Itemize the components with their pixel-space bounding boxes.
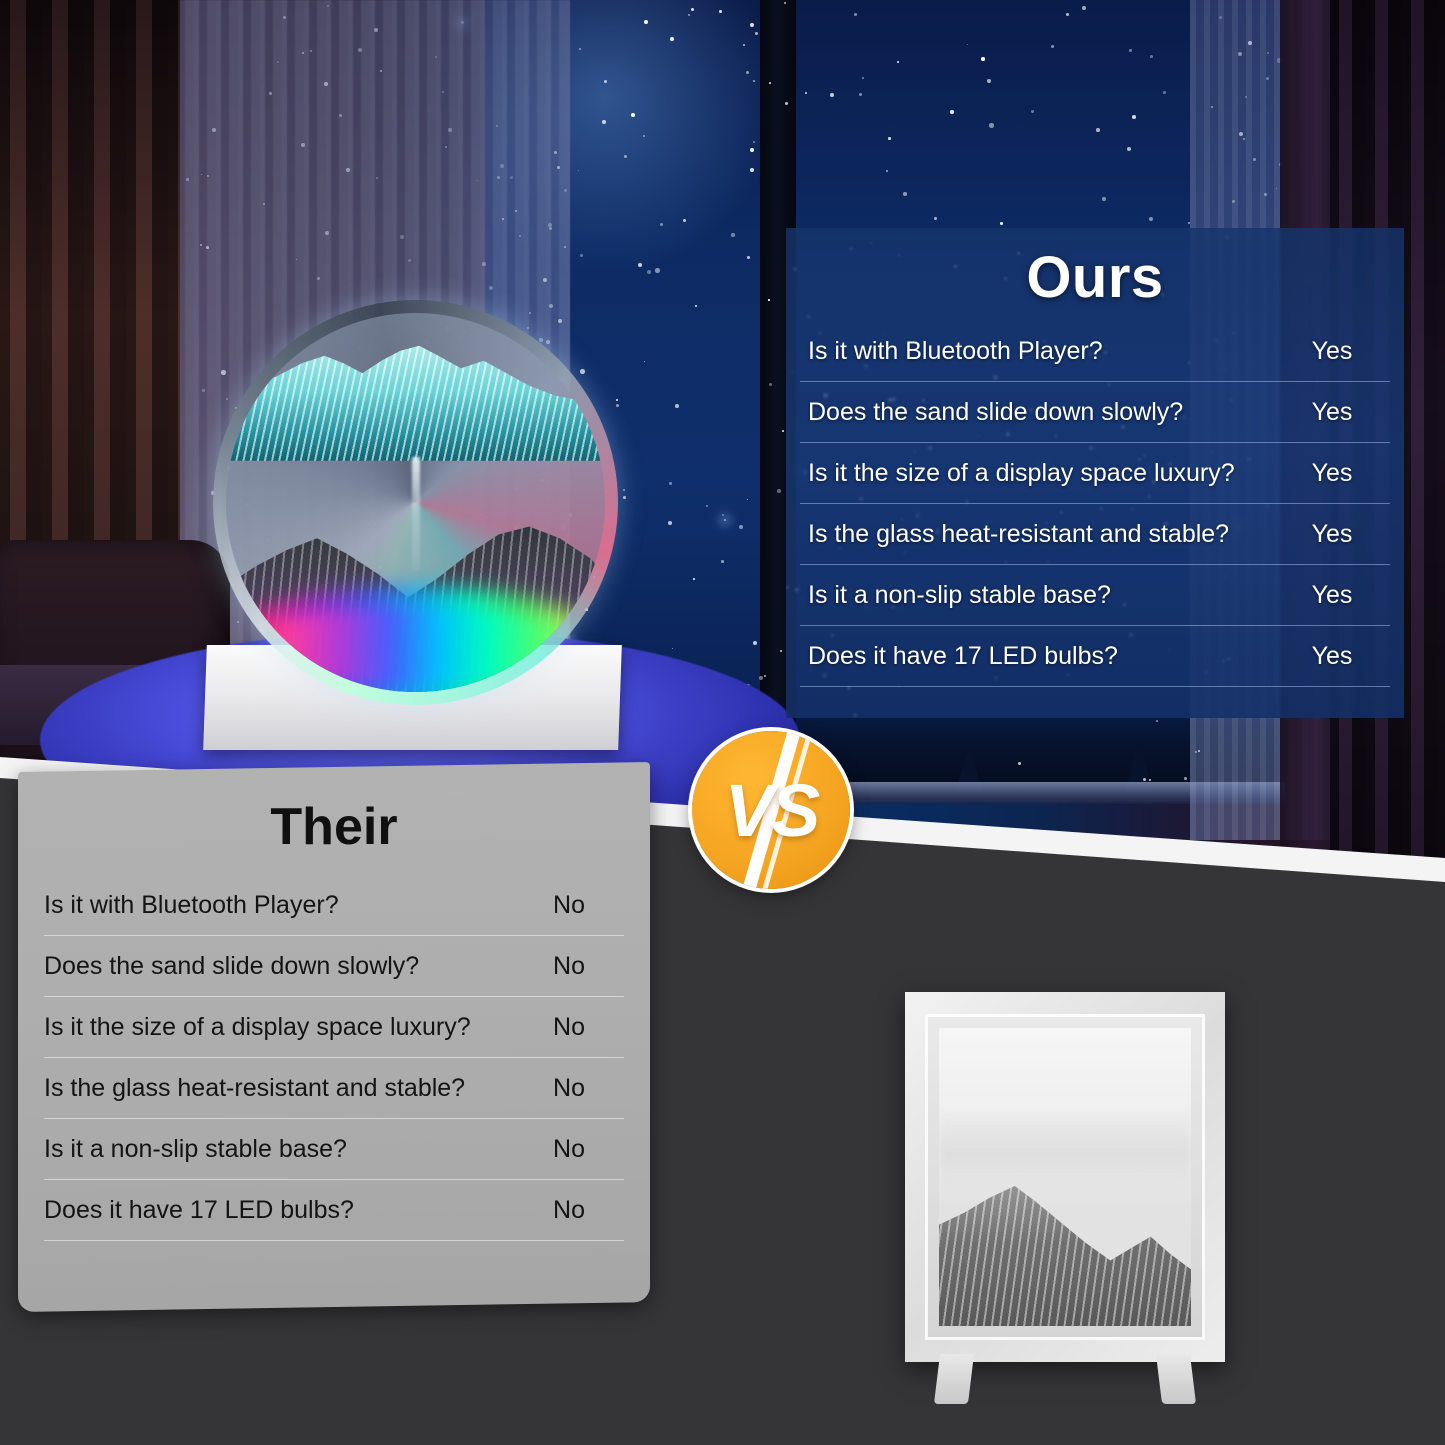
feature-question: Is it the size of a display space luxury… [44, 1013, 514, 1042]
feature-question: Is the glass heat-resistant and stable? [800, 520, 1274, 549]
feature-answer: No [514, 1013, 624, 1042]
rgb-led-arc [241, 609, 590, 685]
feature-question: Does the sand slide down slowly? [800, 398, 1274, 427]
table-row: Is the glass heat-resistant and stable?N… [44, 1057, 624, 1118]
table-row: Is it a non-slip stable base?No [44, 1118, 624, 1179]
feature-answer: Yes [1274, 520, 1390, 549]
ours-comparison-panel: Ours Is it with Bluetooth Player?YesDoes… [786, 228, 1404, 718]
table-row: Does it have 17 LED bulbs?Yes [800, 625, 1390, 687]
table-row: Is it with Bluetooth Player?No [44, 875, 624, 935]
vs-label: VS [692, 731, 850, 889]
feature-answer: No [514, 1074, 624, 1103]
feature-answer: No [514, 1135, 624, 1164]
vs-badge: VS [692, 731, 850, 889]
feature-question: Is it a non-slip stable base? [800, 581, 1274, 610]
feature-answer: No [514, 891, 624, 920]
competitor-leg-left [934, 1354, 974, 1404]
product-sand-art-round [213, 300, 618, 705]
table-row: Is it a non-slip stable base?Yes [800, 564, 1390, 625]
competitor-bevel [925, 1014, 1205, 1340]
competitor-glass [939, 1028, 1191, 1326]
feature-question: Is it a non-slip stable base? [44, 1135, 514, 1164]
feature-question: Does it have 17 LED bulbs? [44, 1196, 514, 1225]
product-glass [226, 313, 605, 692]
their-title: Their [18, 797, 650, 857]
feature-answer: No [514, 1196, 624, 1225]
feature-question: Is it the size of a display space luxury… [800, 459, 1274, 488]
ours-feature-table: Is it with Bluetooth Player?YesDoes the … [786, 321, 1404, 687]
their-feature-table: Is it with Bluetooth Player?NoDoes the s… [18, 875, 650, 1241]
competitor-leg-right [1156, 1354, 1196, 1404]
feature-answer: No [514, 952, 624, 981]
sand-stream [412, 457, 420, 571]
feature-question: Is it with Bluetooth Player? [800, 337, 1274, 366]
table-row: Does it have 17 LED bulbs?No [44, 1179, 624, 1241]
feature-question: Is the glass heat-resistant and stable? [44, 1074, 514, 1103]
table-row: Is it the size of a display space luxury… [800, 442, 1390, 503]
competitor-sand-layer [939, 1177, 1191, 1326]
feature-answer: Yes [1274, 642, 1390, 671]
feature-question: Does it have 17 LED bulbs? [800, 642, 1274, 671]
table-row: Is it the size of a display space luxury… [44, 996, 624, 1057]
competitor-product [905, 992, 1225, 1392]
table-row: Does the sand slide down slowly?No [44, 935, 624, 996]
ours-title: Ours [786, 244, 1404, 311]
their-comparison-panel: Their Is it with Bluetooth Player?NoDoes… [18, 762, 650, 1312]
comparison-infographic: Ours Is it with Bluetooth Player?YesDoes… [0, 0, 1445, 1445]
competitor-sand-haze [939, 1111, 1191, 1194]
feature-question: Is it with Bluetooth Player? [44, 891, 514, 920]
competitor-frame [905, 992, 1225, 1362]
feature-answer: Yes [1274, 581, 1390, 610]
feature-answer: Yes [1274, 337, 1390, 366]
sand-upper-layer [226, 336, 605, 461]
table-row: Is it with Bluetooth Player?Yes [800, 321, 1390, 381]
feature-question: Does the sand slide down slowly? [44, 952, 514, 981]
feature-answer: Yes [1274, 398, 1390, 427]
table-row: Is the glass heat-resistant and stable?Y… [800, 503, 1390, 564]
feature-answer: Yes [1274, 459, 1390, 488]
table-row: Does the sand slide down slowly?Yes [800, 381, 1390, 442]
